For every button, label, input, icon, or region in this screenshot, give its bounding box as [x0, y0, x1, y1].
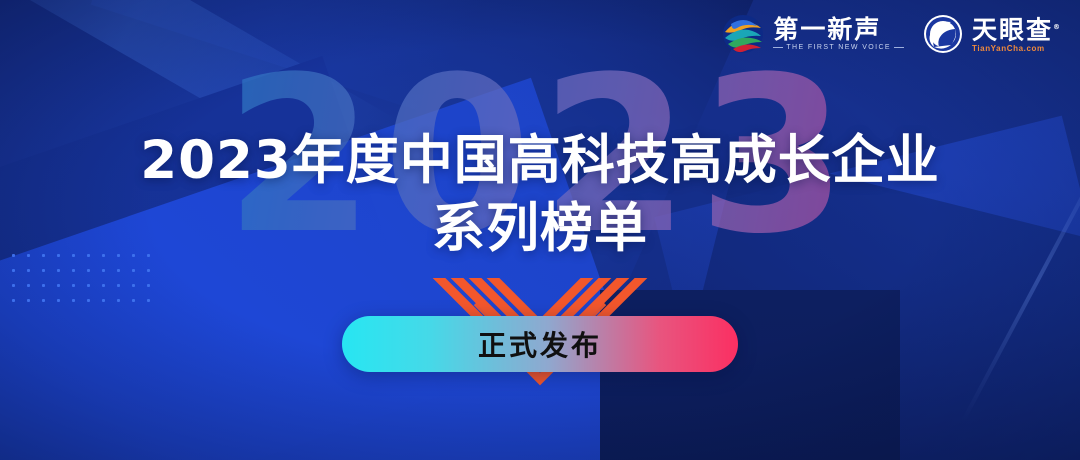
dash-left-icon — [773, 47, 783, 48]
logo-tianyancha-cn-text: 天眼查 — [972, 16, 1053, 45]
logo-diyixinsheng-en-row: THE FIRST NEW VOICE — [773, 43, 904, 53]
logo-tianyancha-text: 天眼查® TianYanCha.com — [972, 14, 1062, 53]
logo-tianyancha[interactable]: 天眼查® TianYanCha.com — [922, 13, 1062, 55]
release-cta-label: 正式发布 — [478, 324, 602, 364]
release-cta-button[interactable]: 正式发布 — [342, 316, 738, 372]
dash-right-icon — [894, 47, 904, 48]
swoosh-globe-icon — [721, 12, 765, 56]
logo-diyixinsheng-text: 第一新声 THE FIRST NEW VOICE — [773, 16, 904, 53]
page-title-line2: 系列榜单 — [0, 200, 1080, 258]
logo-tianyancha-en: TianYanCha.com — [972, 44, 1062, 54]
registered-trademark-icon: ® — [1053, 23, 1062, 31]
logo-diyixinsheng[interactable]: 第一新声 THE FIRST NEW VOICE — [721, 12, 904, 56]
logo-diyixinsheng-cn: 第一新声 — [773, 16, 904, 43]
logo-tianyancha-cn: 天眼查® — [972, 14, 1062, 43]
page-title-line1: 2023年度中国高科技高成长企业 — [0, 132, 1080, 190]
logo-group: 第一新声 THE FIRST NEW VOICE 天眼查® — [721, 12, 1062, 56]
logo-diyixinsheng-en: THE FIRST NEW VOICE — [786, 43, 891, 53]
promo-banner: 2023 2023年度中国高科技高成长企业 系列榜单 正式发布 — [0, 0, 1080, 460]
aperture-eye-icon — [922, 13, 964, 55]
title-block: 2023年度中国高科技高成长企业 系列榜单 — [0, 132, 1080, 258]
